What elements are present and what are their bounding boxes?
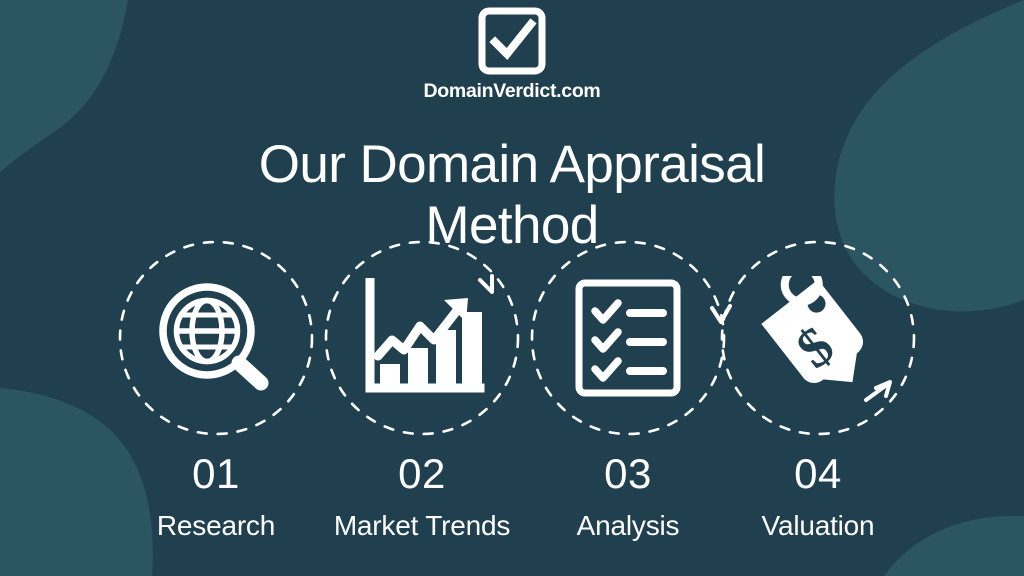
step-01-number: 01 bbox=[110, 450, 322, 498]
step-02-icon-wrap bbox=[316, 232, 528, 444]
step-04-number: 04 bbox=[712, 450, 924, 498]
globe-magnifier-icon bbox=[155, 279, 277, 397]
process-step-01: 01 Research bbox=[110, 232, 322, 562]
brand-wordmark: DomainVerdict.com bbox=[0, 80, 1024, 103]
checkbox-check-icon bbox=[475, 4, 549, 78]
step-04-label: Valuation bbox=[692, 510, 944, 542]
bar-chart-growth-icon bbox=[358, 278, 486, 398]
brand-logo: DomainVerdict.com bbox=[0, 4, 1024, 103]
checklist-document-icon bbox=[573, 278, 683, 398]
process-steps: 01 Research bbox=[0, 232, 1024, 562]
infographic-slide: DomainVerdict.com Our Domain Appraisal M… bbox=[0, 0, 1024, 576]
process-step-02: 02 Market Trends bbox=[316, 232, 528, 562]
step-01-icon-wrap bbox=[110, 232, 322, 444]
price-tag-dollar-icon: $ bbox=[756, 276, 880, 400]
step-02-number: 02 bbox=[316, 450, 528, 498]
step-03-number: 03 bbox=[522, 450, 734, 498]
process-step-04: $ 04 Valuation bbox=[712, 232, 924, 562]
step-04-icon-wrap: $ bbox=[712, 232, 924, 444]
step-03-icon-wrap bbox=[522, 232, 734, 444]
